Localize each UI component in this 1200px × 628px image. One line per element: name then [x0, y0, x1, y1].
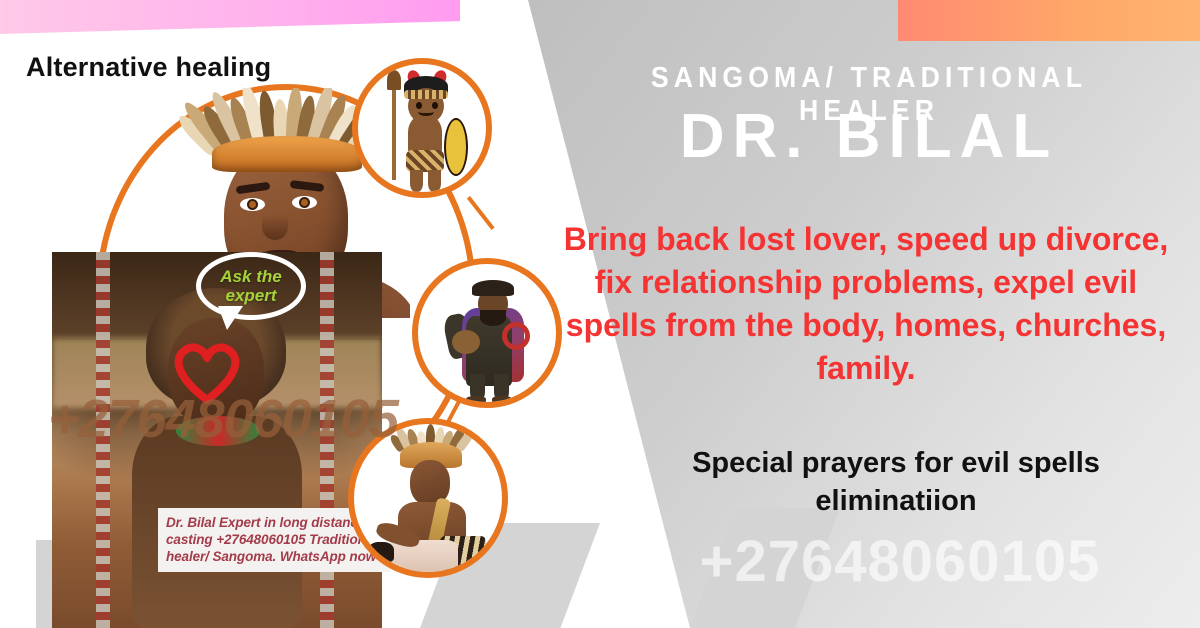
warrior-leg-right — [428, 170, 441, 192]
warrior-loincloth — [406, 150, 444, 172]
photo-caption-line-2: casting +27648060105 Traditional — [166, 531, 382, 548]
warrior-leg-left — [410, 170, 423, 192]
warrior-spear-shaft — [392, 76, 396, 180]
circle-robed-figure — [412, 258, 562, 408]
warrior-headband — [404, 90, 448, 99]
figure-headband — [212, 136, 362, 172]
phone-watermark: +27648060105 — [608, 528, 1192, 595]
pink-gradient-band — [0, 0, 460, 34]
robed-figure-shoe-left — [466, 396, 486, 404]
kneeling-healer-fly-whisk — [368, 542, 394, 562]
healer-name: DR. BILAL — [560, 104, 1178, 169]
speech-bubble: Ask the expert — [196, 252, 306, 320]
figure-nose — [262, 214, 288, 240]
figure-pupil-left — [247, 199, 258, 210]
robed-figure-beard — [480, 310, 506, 326]
robed-figure-emblem — [502, 322, 530, 350]
services-text: Bring back lost lover, speed up divorce,… — [548, 218, 1184, 390]
special-prayers-text: Special prayers for evil spells eliminat… — [608, 444, 1184, 521]
warrior-shield — [444, 118, 468, 176]
robed-figure-hat — [472, 280, 514, 296]
robed-figure-shoe-right — [492, 396, 512, 404]
photo-phone-watermark: +27648060105 — [48, 388, 398, 450]
kneeling-healer-cloth — [388, 540, 458, 578]
figure-pupil-right — [299, 197, 310, 208]
warrior-spear-head — [387, 70, 401, 90]
robed-figure-sack — [452, 330, 480, 354]
circle-zulu-warrior — [352, 58, 492, 198]
warrior-smile — [418, 108, 434, 116]
speech-bubble-text: Ask the expert — [201, 267, 301, 305]
circle-connector-upper — [467, 196, 495, 230]
advert-poster: Alternative healing — [0, 0, 1200, 628]
alternative-healing-heading: Alternative healing — [26, 52, 271, 83]
photo-caption-line-3: healer/ Sangoma. WhatsApp now — [166, 548, 382, 565]
